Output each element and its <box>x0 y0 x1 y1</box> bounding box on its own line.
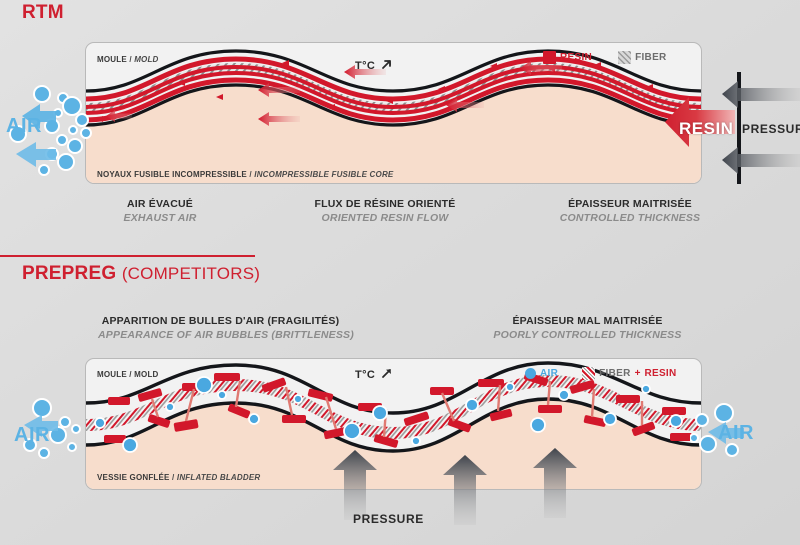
prepreg-bladder-label: VESSIE GONFLÉE / INFLATED BLADDER <box>97 473 260 482</box>
arrow-up-right-icon <box>381 58 393 70</box>
air-arrow-lower <box>16 142 56 167</box>
rtm-caption-exhaust-air: AIR ÉVACUÉ EXHAUST AIR <box>75 198 245 224</box>
rtm-temperature-label: T°C <box>355 58 393 72</box>
legend-item-air: AIR <box>525 368 558 379</box>
prepreg-pressure-label: PRESSURE <box>353 512 424 526</box>
pressure-arrow-bottom <box>722 147 800 174</box>
prepreg-air-left-label: AIR <box>14 424 50 447</box>
prepreg-caption-air-bubbles: APPARITION DE BULLES D'AIR (FRAGILITÉS) … <box>98 315 343 341</box>
rtm-mold-label: MOULE / MOLD <box>97 55 159 64</box>
prepreg-legend: AIR FIBER + RESIN <box>525 367 677 380</box>
legend-item-resin: RESIN <box>543 51 592 64</box>
rtm-core-label: NOYAUX FUSIBLE INCOMPRESSIBLE / INCOMPRE… <box>97 170 393 179</box>
legend-item-fiber-resin: FIBER + RESIN <box>582 367 676 380</box>
rtm-caption-resin-flow: FLUX DE RÉSINE ORIENTÉ ORIENTED RESIN FL… <box>275 198 495 224</box>
pressure-arrow-top <box>722 81 800 108</box>
prepreg-pressure-arrow-1 <box>330 450 380 520</box>
prepreg-pressure-arrow-2 <box>440 455 490 525</box>
arrow-up-right-icon <box>381 367 393 379</box>
fiber-swatch-icon <box>618 51 631 64</box>
prepreg-mold-label: MOULE / MOLD <box>97 370 159 379</box>
prepreg-caption-poor-thickness: ÉPAISSEUR MAL MAITRISÉE POORLY CONTROLLE… <box>480 315 695 341</box>
rtm-air-label: AIR <box>6 115 42 138</box>
legend-item-fiber: FIBER <box>618 51 667 64</box>
rtm-diagram-svg <box>86 43 701 183</box>
rtm-legend: RESIN FIBER <box>543 51 667 64</box>
prepreg-air-right-label: AIR <box>718 422 754 445</box>
prepreg-pressure-arrow-3 <box>530 448 580 518</box>
resin-swatch-icon <box>543 51 556 64</box>
rtm-caption-controlled-thickness: ÉPAISSEUR MAITRISÉE CONTROLLED THICKNESS <box>520 198 740 224</box>
prepreg-divider-rule <box>0 255 255 257</box>
air-dot-icon <box>525 368 536 379</box>
prepreg-temperature-label: T°C <box>355 367 393 381</box>
rtm-pressure-label: PRESSURE <box>742 122 800 136</box>
fiber-resin-swatch-icon <box>582 367 595 380</box>
prepreg-section-title: PREPREG (COMPETITORS) <box>22 263 260 285</box>
rtm-section-title: RTM <box>22 2 64 24</box>
